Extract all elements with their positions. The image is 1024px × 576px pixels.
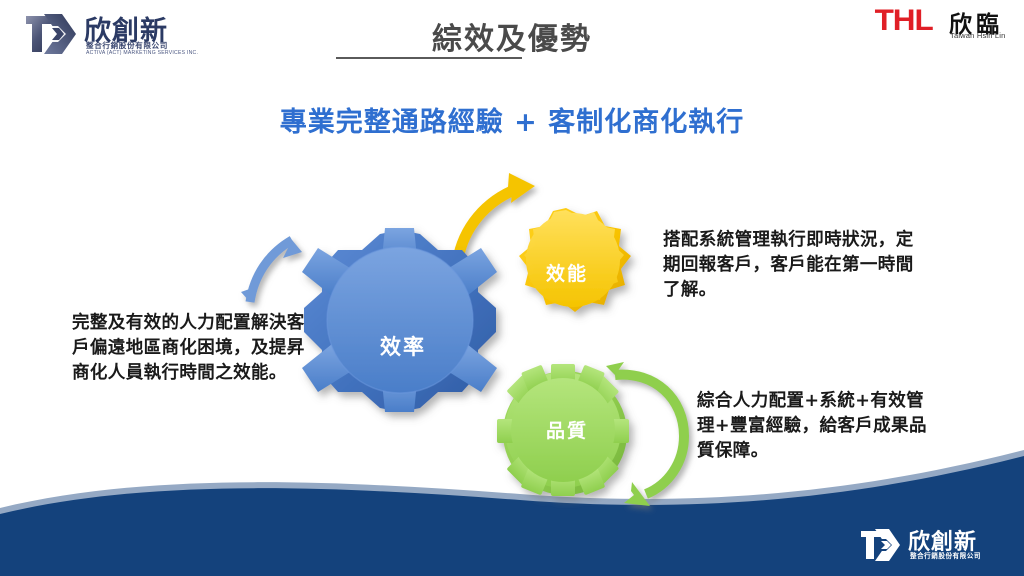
gear-efficiency <box>302 228 497 412</box>
note-bottom-right-text: 綜合人力配置+系統+有效管理+豐富經驗，給客戶成果品質保障。 <box>697 389 932 464</box>
note-top-right-text: 搭配系統管理執行即時狀況，定期回報客戶，客戶能在第一時間了解。 <box>663 228 925 303</box>
gear-label-quality: 品質 <box>517 416 617 443</box>
note-left-text: 完整及有效的人力配置解決客戶偏遠地區商化困境，及提昇商化人員執行時間之效能。 <box>72 311 312 386</box>
gear-label-efficiency: 效率 <box>348 331 458 361</box>
arrow-blue-icon <box>241 240 302 302</box>
act-arrow-logo-mark-footer-icon <box>858 526 902 564</box>
footer-brand-subtitle-cn: 整合行銷股份有限公司 <box>910 550 981 560</box>
brand-logo-footer: 欣創新 整合行銷股份有限公司 <box>858 524 1018 570</box>
gear-label-performance: 效能 <box>517 259 617 286</box>
slide-canvas: 欣創新 整合行銷股份有限公司 ACTIVA (ACT) MARKETING SE… <box>0 0 1024 576</box>
